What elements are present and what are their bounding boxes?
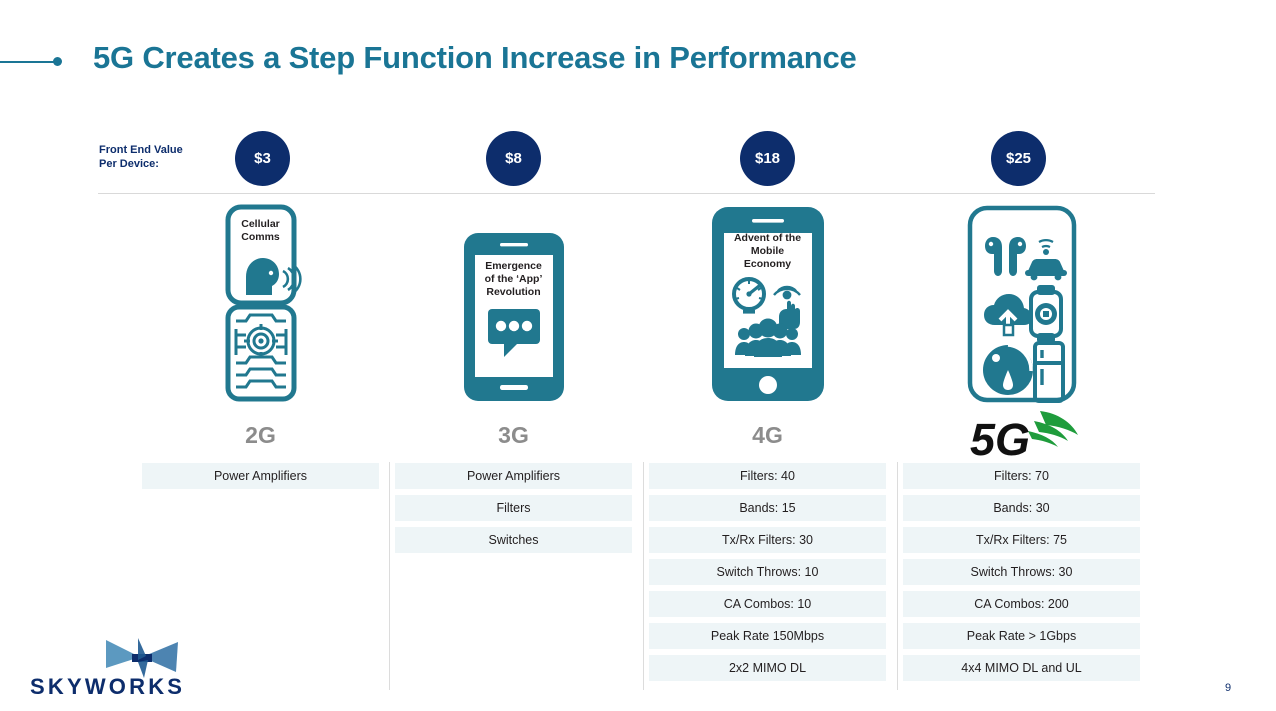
feature-row: Power Amplifiers [142, 463, 379, 489]
device-art-3g: Emergence of the ‘App’ Revolution [386, 200, 641, 405]
device-screen-text-2g-line1: Cellular [133, 218, 388, 231]
generation-label-2g: 2G [133, 422, 388, 449]
page-number: 9 [1225, 682, 1231, 694]
feature-list-2g: Power Amplifiers [142, 463, 379, 495]
device-screen-text-2g: Cellular Comms [133, 218, 388, 244]
iot-tablet-icon [967, 205, 1077, 403]
skyworks-wordmark: SKYWORKS [30, 674, 185, 700]
front-end-value-label-line1: Front End Value [99, 143, 219, 157]
device-art-2g: Cellular Comms [133, 200, 388, 405]
column-3g: Emergence of the ‘App’ Revolution 3G Pow… [386, 200, 641, 695]
feature-row: Tx/Rx Filters: 30 [649, 527, 886, 553]
value-badge-3g: $8 [486, 131, 541, 186]
feature-row: Peak Rate > 1Gbps [903, 623, 1140, 649]
feature-row: Filters: 70 [903, 463, 1140, 489]
device-screen-text-3g-line2: of the ‘App’ [386, 273, 641, 286]
feature-row: Bands: 15 [649, 495, 886, 521]
device-screen-text-4g-line3: Economy [640, 258, 895, 271]
feature-row: Filters [395, 495, 632, 521]
value-badge-4g: $18 [740, 131, 795, 186]
column-4g: Advent of the Mobile Economy 4G Filters:… [640, 200, 895, 695]
feature-row: CA Combos: 200 [903, 591, 1140, 617]
feature-list-5g: Filters: 70 Bands: 30 Tx/Rx Filters: 75 … [903, 463, 1140, 687]
feature-row: 4x4 MIMO DL and UL [903, 655, 1140, 681]
device-screen-text-3g: Emergence of the ‘App’ Revolution [386, 260, 641, 299]
feature-row: Power Amplifiers [395, 463, 632, 489]
title-accent-dot [53, 57, 62, 66]
title-accent-line [0, 61, 54, 63]
generation-label-3g: 3G [386, 422, 641, 449]
device-screen-text-3g-line1: Emergence [386, 260, 641, 273]
front-end-value-label: Front End Value Per Device: [99, 143, 219, 171]
device-screen-text-3g-line3: Revolution [386, 286, 641, 299]
feature-row: 2x2 MIMO DL [649, 655, 886, 681]
feature-list-4g: Filters: 40 Bands: 15 Tx/Rx Filters: 30 … [649, 463, 886, 687]
feature-row: CA Combos: 10 [649, 591, 886, 617]
feature-list-3g: Power Amplifiers Filters Switches [395, 463, 632, 559]
five-g-logo-icon: 5G [962, 405, 1082, 461]
feature-row: Tx/Rx Filters: 75 [903, 527, 1140, 553]
feature-row: Filters: 40 [649, 463, 886, 489]
five-g-logo-text: 5G [970, 414, 1030, 461]
generation-label-4g: 4G [640, 422, 895, 449]
feature-row: Bands: 30 [903, 495, 1140, 521]
skyworks-logo: SKYWORKS [30, 638, 190, 700]
value-badge-2g: $3 [235, 131, 290, 186]
column-5g: 5G Filters: 70 Bands: 30 Tx/Rx Filters: … [894, 200, 1149, 695]
feature-row: Switch Throws: 10 [649, 559, 886, 585]
device-screen-text-4g-line2: Mobile [640, 245, 895, 258]
device-art-4g: Advent of the Mobile Economy [640, 200, 895, 405]
header-divider [98, 193, 1155, 194]
generation-logo-5g: 5G [894, 405, 1149, 460]
column-2g: Cellular Comms 2G Power Amplifiers [133, 200, 388, 695]
device-art-5g [894, 200, 1149, 405]
feature-phone-icon [462, 231, 566, 403]
value-badge-5g: $25 [991, 131, 1046, 186]
feature-row: Peak Rate 150Mbps [649, 623, 886, 649]
device-screen-text-2g-line2: Comms [133, 231, 388, 244]
feature-row: Switch Throws: 30 [903, 559, 1140, 585]
page-title: 5G Creates a Step Function Increase in P… [93, 40, 857, 76]
front-end-value-label-line2: Per Device: [99, 157, 219, 171]
feature-row: Switches [395, 527, 632, 553]
device-screen-text-4g: Advent of the Mobile Economy [640, 232, 895, 271]
device-screen-text-4g-line1: Advent of the [640, 232, 895, 245]
